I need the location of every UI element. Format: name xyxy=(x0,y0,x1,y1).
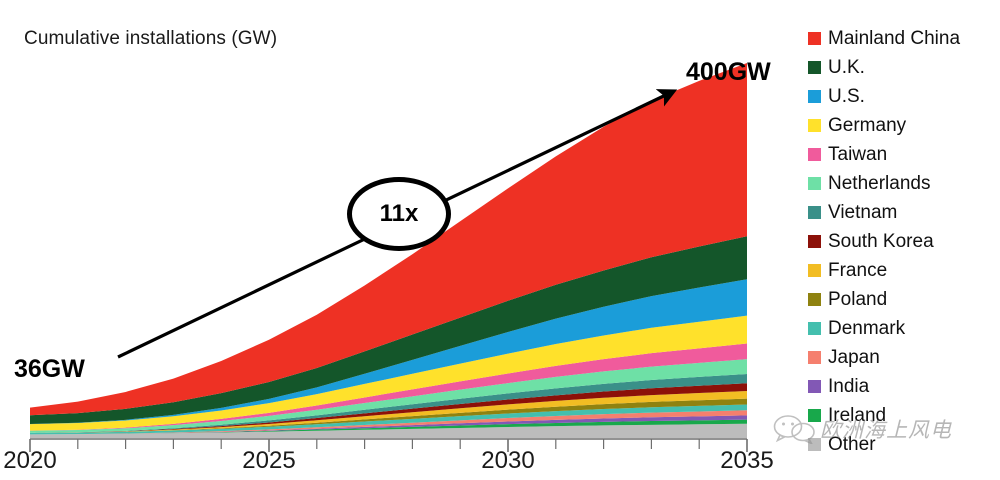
end-value-label: 400GW xyxy=(686,58,771,87)
x-axis xyxy=(30,439,747,452)
x-tick-label-2025: 2025 xyxy=(242,447,295,475)
x-tick-label-2020: 2020 xyxy=(3,447,56,475)
legend-item-u-k[interactable]: U.K. xyxy=(808,53,1000,82)
legend-item-label: Mainland China xyxy=(828,29,960,48)
legend-swatch-icon xyxy=(808,380,821,393)
x-tick-label-2035: 2035 xyxy=(720,447,773,475)
legend-item-label: France xyxy=(828,261,887,280)
legend-item-taiwan[interactable]: Taiwan xyxy=(808,140,1000,169)
legend-swatch-icon xyxy=(808,119,821,132)
growth-multiplier-label: 11x xyxy=(380,202,419,226)
legend-item-label: Denmark xyxy=(828,319,905,338)
legend-swatch-icon xyxy=(808,293,821,306)
legend-item-label: U.K. xyxy=(828,58,865,77)
legend-item-label: Japan xyxy=(828,348,880,367)
legend-item-label: Poland xyxy=(828,290,887,309)
legend-item-france[interactable]: France xyxy=(808,256,1000,285)
legend-item-label: Ireland xyxy=(828,406,886,425)
legend-item-south-korea[interactable]: South Korea xyxy=(808,227,1000,256)
legend-swatch-icon xyxy=(808,61,821,74)
x-tick-label-2030: 2030 xyxy=(481,447,534,475)
legend-swatch-icon xyxy=(808,322,821,335)
legend-item-label: Germany xyxy=(828,116,906,135)
legend-item-other[interactable]: Other xyxy=(808,430,1000,459)
legend-swatch-icon xyxy=(808,148,821,161)
legend-item-label: Netherlands xyxy=(828,174,930,193)
legend-item-label: U.S. xyxy=(828,87,865,106)
legend-swatch-icon xyxy=(808,90,821,103)
legend-item-india[interactable]: India xyxy=(808,372,1000,401)
area-series-group xyxy=(30,63,747,438)
growth-multiplier-badge: 11x xyxy=(347,177,451,251)
chart-legend: Mainland ChinaU.K.U.S.GermanyTaiwanNethe… xyxy=(808,24,1000,459)
x-axis-ticks xyxy=(30,439,747,452)
legend-swatch-icon xyxy=(808,177,821,190)
legend-item-netherlands[interactable]: Netherlands xyxy=(808,169,1000,198)
legend-item-mainland-china[interactable]: Mainland China xyxy=(808,24,1000,53)
legend-item-japan[interactable]: Japan xyxy=(808,343,1000,372)
legend-item-poland[interactable]: Poland xyxy=(808,285,1000,314)
legend-item-u-s[interactable]: U.S. xyxy=(808,82,1000,111)
legend-swatch-icon xyxy=(808,409,821,422)
legend-item-vietnam[interactable]: Vietnam xyxy=(808,198,1000,227)
legend-swatch-icon xyxy=(808,264,821,277)
legend-item-ireland[interactable]: Ireland xyxy=(808,401,1000,430)
legend-swatch-icon xyxy=(808,206,821,219)
legend-item-label: India xyxy=(828,377,869,396)
legend-item-label: Other xyxy=(828,435,876,454)
legend-item-germany[interactable]: Germany xyxy=(808,111,1000,140)
start-value-label: 36GW xyxy=(14,355,85,384)
legend-item-denmark[interactable]: Denmark xyxy=(808,314,1000,343)
legend-swatch-icon xyxy=(808,438,821,451)
legend-swatch-icon xyxy=(808,351,821,364)
legend-item-label: Taiwan xyxy=(828,145,887,164)
legend-swatch-icon xyxy=(808,235,821,248)
legend-item-label: Vietnam xyxy=(828,203,897,222)
chart-figure: Cumulative installations (GW) 36GW 400GW… xyxy=(0,0,1000,480)
legend-swatch-icon xyxy=(808,32,821,45)
legend-item-label: South Korea xyxy=(828,232,934,251)
